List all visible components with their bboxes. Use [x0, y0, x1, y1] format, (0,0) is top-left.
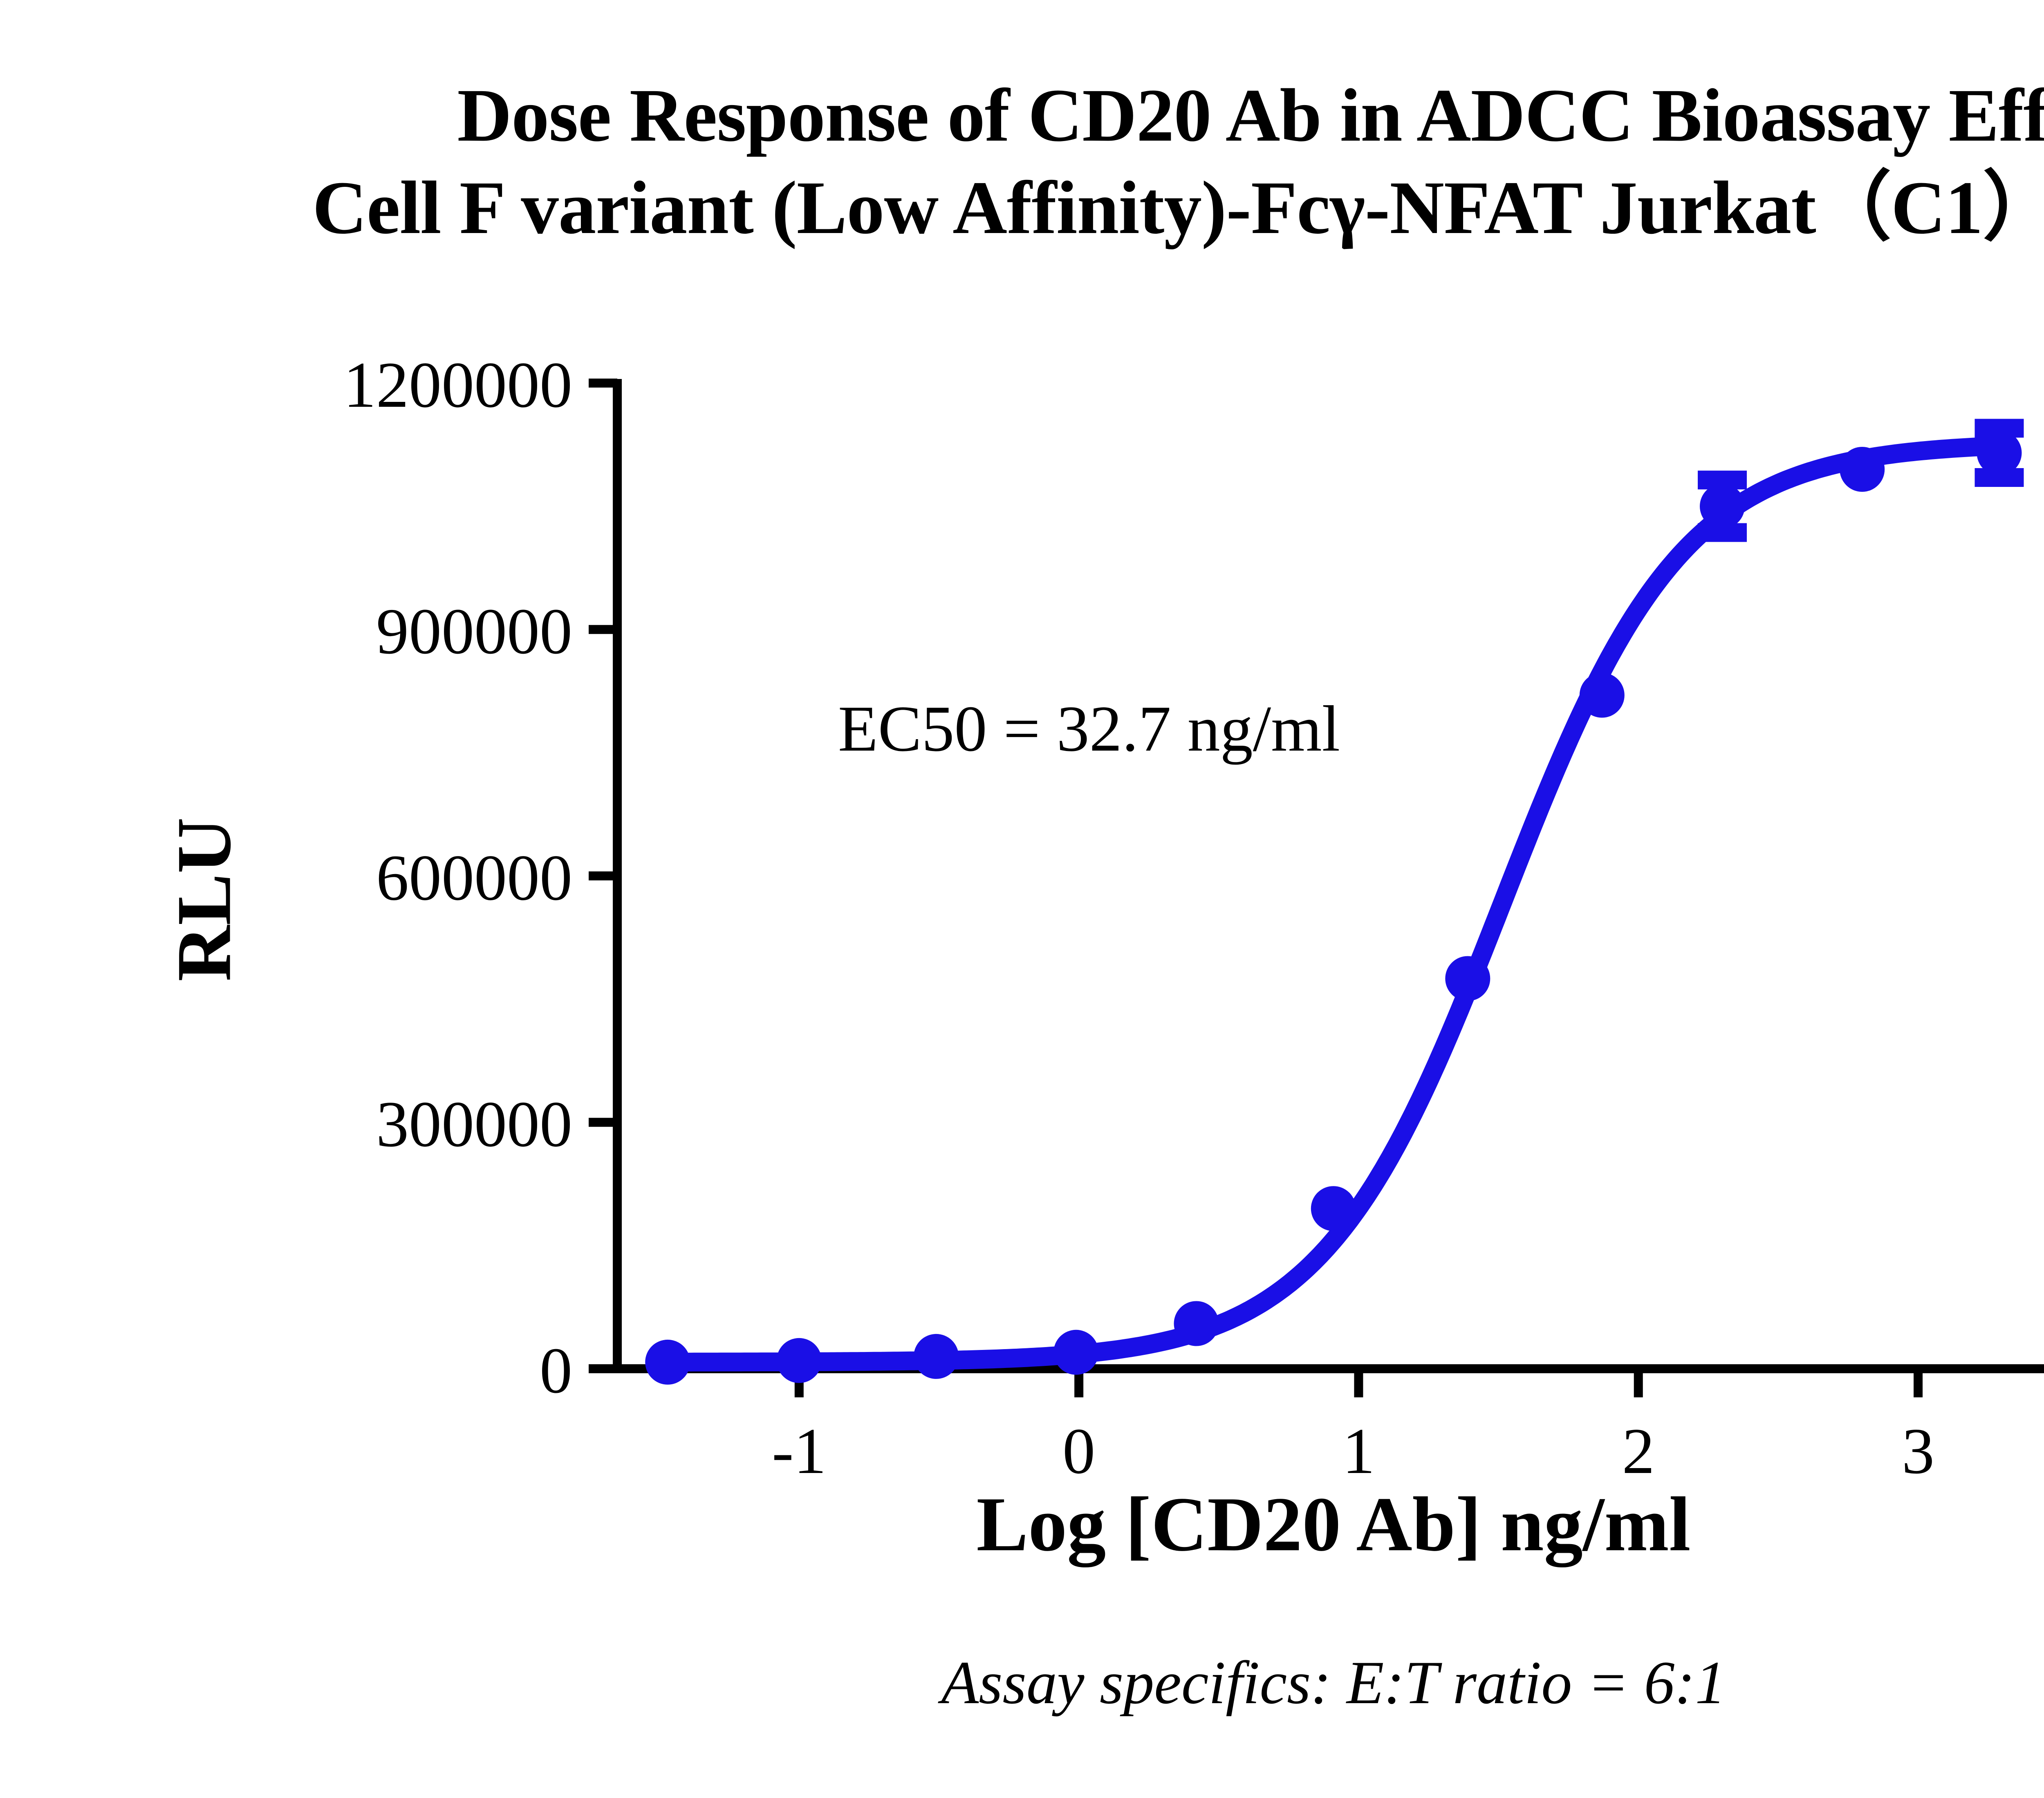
- data-point-1: [777, 1338, 822, 1383]
- x-tick-label-2: 1: [1342, 1415, 1375, 1487]
- x-tick-label-1: 0: [1062, 1415, 1095, 1487]
- data-point-7: [1580, 673, 1625, 718]
- ec50-annotation: EC50 = 32.7 ng/ml: [838, 691, 1340, 767]
- y-tick-label-3: 900000: [376, 595, 572, 668]
- x-tick-label-4: 3: [1902, 1415, 1934, 1487]
- y-tick-label-1: 300000: [376, 1087, 572, 1160]
- data-point-0: [645, 1340, 690, 1385]
- x-tick-label-0: -1: [772, 1415, 826, 1487]
- data-point-9: [1840, 447, 1885, 492]
- figure-caption: Assay specifics: E:T ratio = 6:1: [0, 1648, 2044, 1718]
- data-point-10: [1977, 430, 2022, 475]
- y-tick-label-2: 600000: [376, 841, 572, 914]
- chart-figure: Dose Response of CD20 Ab in ADCC Bioassa…: [0, 0, 2044, 1798]
- y-tick-label-4: 1200000: [343, 348, 572, 421]
- data-point-3: [1053, 1330, 1098, 1375]
- data-point-6: [1445, 956, 1490, 1001]
- data-point-5: [1311, 1186, 1356, 1231]
- y-tick-label-0: 0: [540, 1334, 572, 1407]
- data-point-4: [1174, 1301, 1219, 1346]
- x-tick-label-3: 2: [1622, 1415, 1655, 1487]
- data-point-2: [914, 1334, 959, 1379]
- data-point-8: [1700, 484, 1745, 529]
- x-axis-title: Log [CD20 Ab] ng/ml: [0, 1480, 2044, 1569]
